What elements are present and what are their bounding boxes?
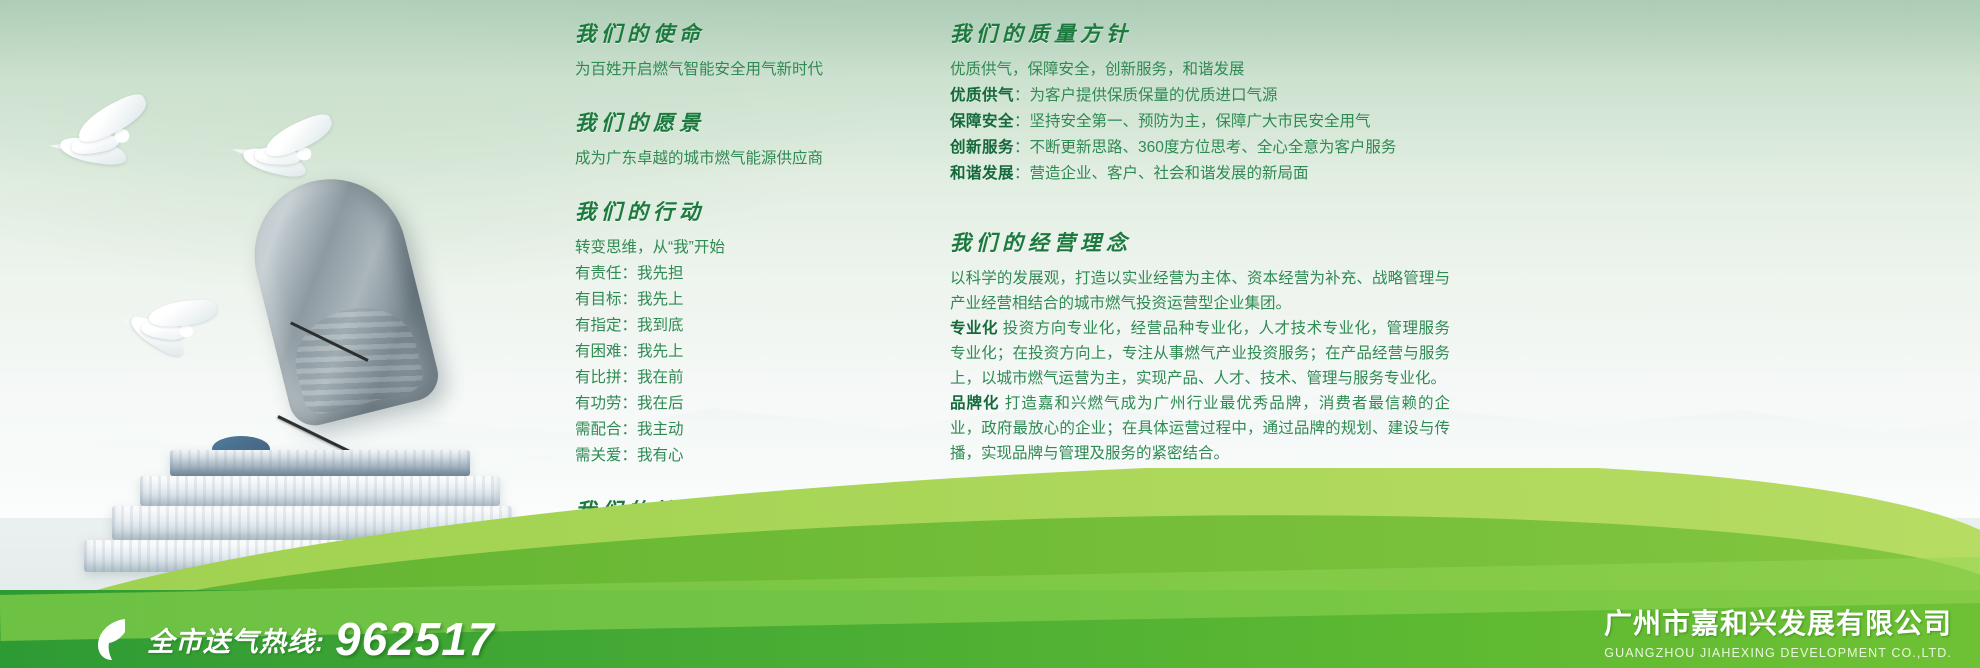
- company-name-cn: 广州市嘉和兴发展有限公司: [1604, 602, 1952, 642]
- management-philosophy-paragraph: 品牌化 打造嘉和兴燃气成为广州行业最优秀品牌，消费者最信赖的企业，政府最放心的企…: [950, 391, 1450, 466]
- hotline-number: 962517: [335, 616, 495, 662]
- action-item: 有责任：我先担: [575, 261, 905, 287]
- hotline-group: 全市送气热线: 962517: [95, 616, 495, 662]
- management-philosophy-paragraph: 专业化 投资方向专业化，经营品种专业化，人才技术专业化，管理服务专业化；在投资方…: [950, 316, 1450, 391]
- section-vision: 我们的愿景 成为广东卓越的城市燃气能源供应商: [575, 107, 905, 172]
- quality-policy-item: 和谐发展：营造企业、客户、社会和谐发展的新局面: [950, 161, 1450, 187]
- quality-policy-label: 创新服务: [950, 139, 1014, 156]
- poster-canvas: 我们的使命 为百姓开启燃气智能安全用气新时代 我们的愿景 成为广东卓越的城市燃气…: [0, 0, 1980, 668]
- quality-policy-heading: 我们的质量方针: [950, 18, 1450, 48]
- sundial-dial: [238, 163, 443, 431]
- bottom-banner: 全市送气热线: 962517 广州市嘉和兴发展有限公司 GUANGZHOU JI…: [0, 468, 1980, 668]
- vision-heading: 我们的愿景: [575, 107, 905, 137]
- quality-policy-sep: ：: [1014, 87, 1030, 104]
- action-item: 需配合：我主动: [575, 417, 905, 443]
- company-name-en: GUANGZHOU JIAHEXING DEVELOPMENT CO.,LTD.: [1604, 646, 1952, 660]
- action-heading: 我们的行动: [575, 196, 905, 226]
- quality-policy-label: 保障安全: [950, 113, 1014, 130]
- quality-policy-sep: ：: [1014, 165, 1030, 182]
- management-philosophy-intro: 以科学的发展观，打造以实业经营为主体、资本经营为补充、战略管理与产业经营相结合的…: [950, 266, 1450, 316]
- quality-policy-text: 为客户提供保质保量的优质进口气源: [1030, 87, 1278, 104]
- management-philosophy-label: 品牌化: [950, 395, 1000, 412]
- quality-policy-label: 和谐发展: [950, 165, 1014, 182]
- management-philosophy-text: 投资方向专业化，经营品种专业化，人才技术专业化，管理服务专业化；在投资方向上，专…: [950, 320, 1450, 387]
- action-item: 有指定：我到底: [575, 313, 905, 339]
- management-philosophy-text: 打造嘉和兴燃气成为广州行业最优秀品牌，消费者最信赖的企业，政府最放心的企业；在具…: [950, 395, 1450, 462]
- section-management-philosophy: 我们的经营理念 以科学的发展观，打造以实业经营为主体、资本经营为补充、战略管理与…: [950, 227, 1450, 466]
- vision-line: 成为广东卓越的城市燃气能源供应商: [575, 146, 905, 172]
- mission-heading: 我们的使命: [575, 18, 905, 48]
- action-intro: 转变思维，从“我”开始: [575, 235, 905, 261]
- quality-policy-label: 优质供气: [950, 87, 1014, 104]
- quality-policy-summary: 优质供气，保障安全，创新服务，和谐发展: [950, 57, 1450, 83]
- action-item: 需关爱：我有心: [575, 443, 905, 469]
- management-philosophy-heading: 我们的经营理念: [950, 227, 1450, 257]
- section-quality-policy: 我们的质量方针 优质供气，保障安全，创新服务，和谐发展 优质供气：为客户提供保质…: [950, 18, 1450, 187]
- quality-policy-text: 坚持安全第一、预防为主，保障广大市民安全用气: [1030, 113, 1371, 130]
- action-item: 有目标：我先上: [575, 287, 905, 313]
- action-item: 有功劳：我在后: [575, 391, 905, 417]
- quality-policy-sep: ：: [1014, 139, 1030, 156]
- section-action: 我们的行动 转变思维，从“我”开始 有责任：我先担 有目标：我先上 有指定：我到…: [575, 196, 905, 469]
- phone-icon: [95, 616, 137, 662]
- management-philosophy-label: 专业化: [950, 320, 998, 337]
- mission-line: 为百姓开启燃气智能安全用气新时代: [575, 57, 905, 83]
- hotline-label: 全市送气热线:: [147, 620, 325, 659]
- action-item: 有困难：我先上: [575, 339, 905, 365]
- company-identity: 广州市嘉和兴发展有限公司 GUANGZHOU JIAHEXING DEVELOP…: [1604, 602, 1952, 660]
- quality-policy-text: 不断更新思路、360度方位思考、全心全意为客户服务: [1030, 139, 1397, 156]
- quality-policy-item: 优质供气：为客户提供保质保量的优质进口气源: [950, 83, 1450, 109]
- quality-policy-item: 保障安全：坚持安全第一、预防为主，保障广大市民安全用气: [950, 109, 1450, 135]
- quality-policy-sep: ：: [1014, 113, 1030, 130]
- quality-policy-item: 创新服务：不断更新思路、360度方位思考、全心全意为客户服务: [950, 135, 1450, 161]
- section-mission: 我们的使命 为百姓开启燃气智能安全用气新时代: [575, 18, 905, 83]
- quality-policy-text: 营造企业、客户、社会和谐发展的新局面: [1030, 165, 1309, 182]
- action-item: 有比拼：我在前: [575, 365, 905, 391]
